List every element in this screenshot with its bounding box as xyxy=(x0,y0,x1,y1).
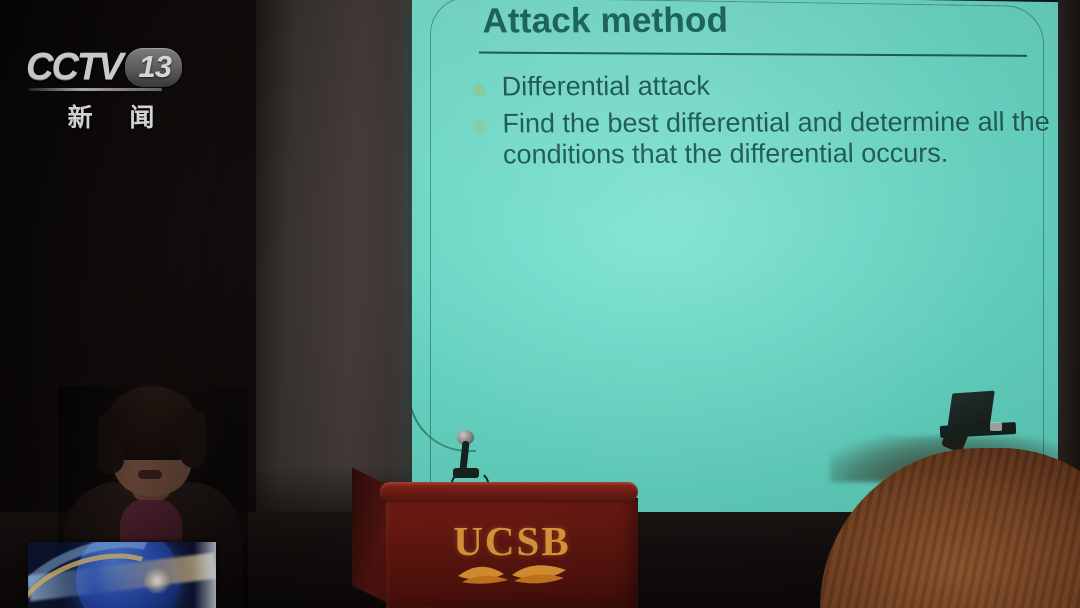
list-item: Differential attack xyxy=(473,70,1053,103)
podium-top-rail xyxy=(380,482,638,502)
news-banner-art xyxy=(28,542,216,608)
news-globe-swoosh-graphic xyxy=(28,542,216,608)
bullet-text: Find the best differential and determine… xyxy=(502,107,1055,171)
microphone-neck xyxy=(459,441,469,472)
list-item: Find the best differential and determine… xyxy=(474,107,1055,171)
bullet-dot-icon xyxy=(474,85,485,96)
device-hinge xyxy=(990,422,1002,431)
cctv13-logo-icon: CCTV 13 新 闻 xyxy=(26,44,196,130)
ucsb-wave-icon xyxy=(456,563,568,585)
audience-member-head xyxy=(820,448,1080,608)
presenter-hair-left xyxy=(98,412,124,474)
presenter-hair-right xyxy=(180,410,206,468)
slide-title-underline xyxy=(479,52,1027,57)
bullet-text: Differential attack xyxy=(501,70,1053,103)
banner-right-fade xyxy=(194,542,216,608)
slide-title: Attack method xyxy=(482,1,728,42)
auditorium-wall-band xyxy=(256,0,422,545)
cctv-channel-number: 13 xyxy=(138,49,170,84)
cctv-logo-row: CCTV 13 xyxy=(26,44,196,90)
broadcast-video-frame: Attack method Differential attack Find t… xyxy=(0,0,1080,608)
cctv-channel-badge: 13 xyxy=(125,48,181,87)
bullet-dot-icon xyxy=(474,122,485,133)
slide-bullet-list: Differential attack Find the best differ… xyxy=(473,70,1055,177)
lectern-podium: UCSB xyxy=(352,482,640,608)
cctv-logo-underbar xyxy=(28,88,162,91)
podium-logo: UCSB xyxy=(386,520,638,585)
presenter-mouth xyxy=(138,470,162,479)
cctv-channel-subtitle: 新 闻 xyxy=(26,98,196,134)
spark-highlight xyxy=(144,568,170,594)
podium-front-panel: UCSB xyxy=(386,498,638,608)
podium-logo-text: UCSB xyxy=(386,520,638,562)
cctv-wordmark: CCTV xyxy=(26,47,121,87)
